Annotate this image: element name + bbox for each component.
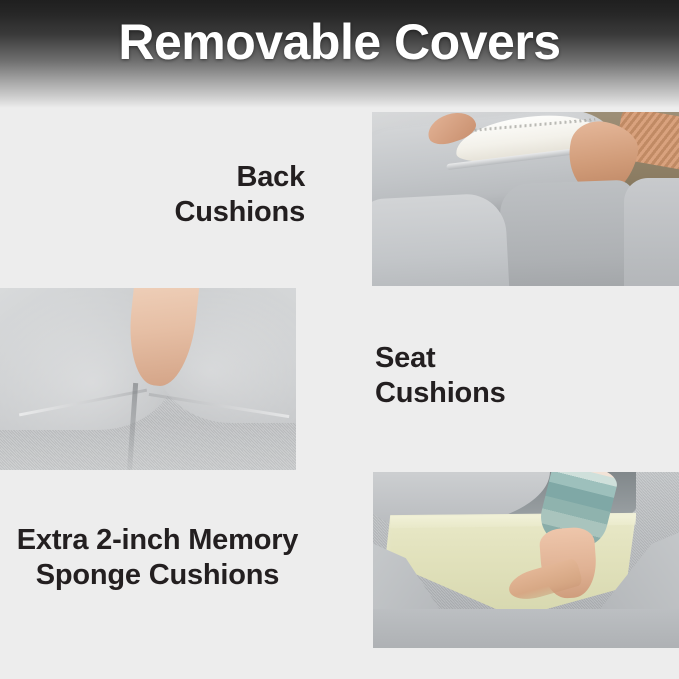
hand-knuckles — [147, 359, 191, 392]
seat-cushion-front — [372, 192, 510, 286]
photo-content — [373, 472, 679, 648]
sofa-arm-right — [624, 178, 679, 286]
back-cushion-unzip-photo — [372, 112, 679, 286]
seat-cushion-press-photo — [0, 288, 296, 470]
infographic-page: Removable Covers — [0, 0, 679, 679]
label-back-cushions: Back Cushions — [55, 160, 305, 230]
memory-foam-photo — [373, 472, 679, 648]
photo-content — [372, 112, 679, 286]
sofa-arm-middle — [499, 179, 638, 286]
sofa-frame-bottom — [373, 609, 679, 648]
label-memory-sponge-cushions: Extra 2-inch Memory Sponge Cushions — [0, 523, 315, 593]
page-title: Removable Covers — [0, 12, 679, 72]
label-seat-cushions: Seat Cushions — [375, 341, 635, 411]
photo-content — [0, 288, 296, 470]
